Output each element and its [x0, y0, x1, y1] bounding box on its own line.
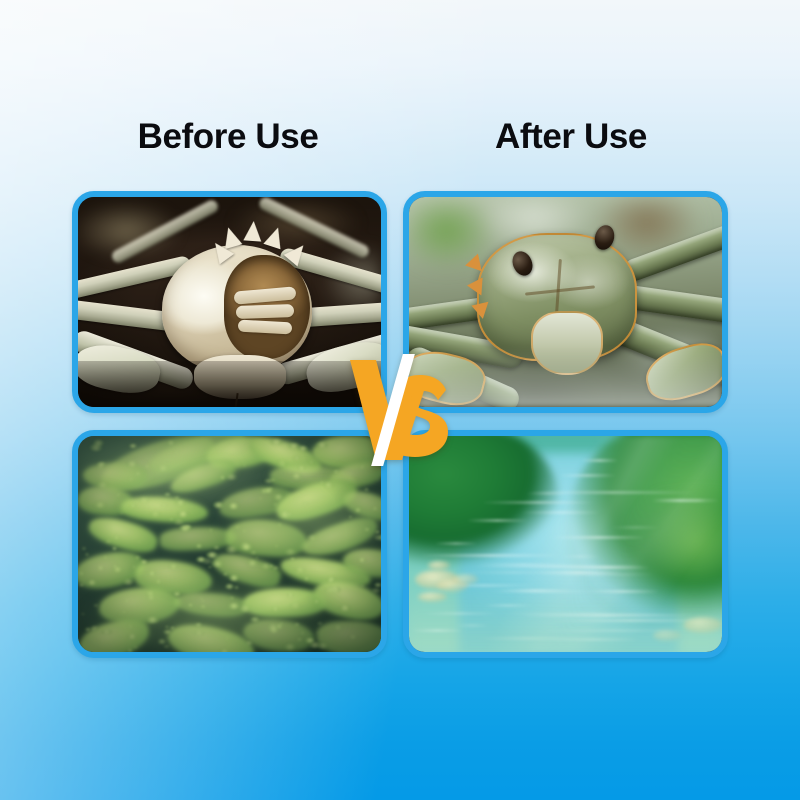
panel-before-crab [72, 191, 387, 413]
photo-before-crab [78, 197, 381, 407]
comparison-poster: Before Use After Use [0, 0, 800, 800]
water-green-tint [409, 587, 722, 652]
heading-before-use: Before Use [78, 112, 378, 162]
carapace-spine [466, 276, 482, 295]
photo-after-water [409, 436, 722, 652]
heading-after-use: After Use [421, 112, 721, 162]
wet-foreground [409, 347, 722, 407]
dark-foreground [78, 361, 381, 407]
comparison-grid [72, 191, 728, 658]
panel-before-water [72, 430, 387, 658]
crab-gill [236, 304, 294, 319]
photo-after-crab [409, 197, 722, 407]
headings-row: Before Use After Use [0, 112, 800, 168]
photo-before-water [78, 436, 381, 652]
vignette [78, 436, 381, 652]
panel-after-crab [403, 191, 728, 413]
panel-after-water [403, 430, 728, 658]
shell-shard [243, 220, 262, 241]
